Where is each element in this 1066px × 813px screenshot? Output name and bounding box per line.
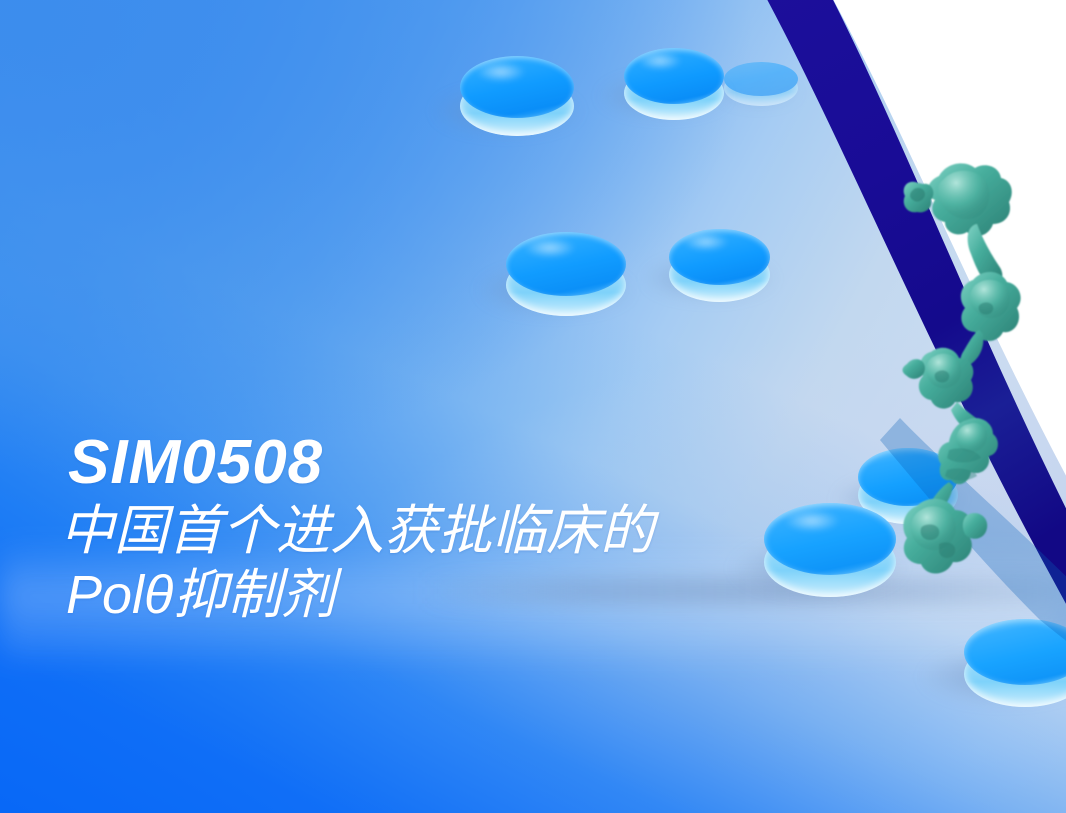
protein-domain-2-groove [979,302,994,314]
protein-lobe-right [963,513,987,539]
subtitle-line-2: Polθ抑制剂 [66,564,818,628]
tablet-5 [669,229,770,305]
tablet-3 [724,62,798,108]
page-title: SIM0508 [68,432,818,494]
tablet-2-highlight [638,52,682,70]
protein-domain-3-groove [935,370,950,382]
protein-bump-left [903,359,926,379]
tablet-4 [506,232,626,320]
banner-root: SIM0508 中国首个进入获批临床的 Polθ抑制剂 [0,0,1066,813]
tablet-1 [460,56,574,140]
tablet-4-highlight [524,238,576,258]
tablet-5-highlight [683,233,729,251]
protein-structure [895,158,1065,578]
tablet-3-top [724,62,798,96]
tablet-1-highlight [476,62,526,82]
tablet-2 [624,48,724,124]
subtitle-line-1: 中国首个进入获批临床的 [60,500,818,564]
headline-block: SIM0508 中国首个进入获批临床的 Polθ抑制剂 [58,432,818,627]
protein-domain-bottom-groove-a [921,524,940,540]
tablet-8 [964,619,1066,711]
